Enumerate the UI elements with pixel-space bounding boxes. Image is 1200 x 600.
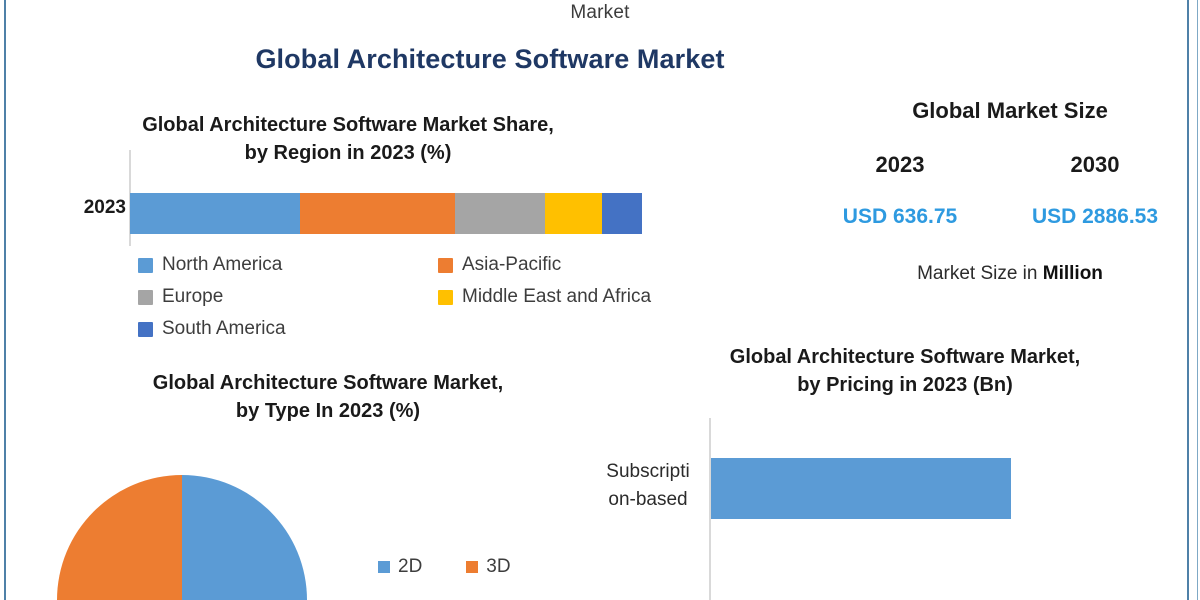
market-share-segment-north-america (130, 193, 300, 234)
market-by-type-pie-chart (57, 475, 307, 600)
region-legend-item: Europe (138, 286, 438, 308)
region-legend-label: Asia-Pacific (462, 254, 561, 276)
region-legend-item: Asia-Pacific (438, 254, 698, 276)
region-legend-label: Europe (162, 286, 223, 308)
right-border-rule (1187, 0, 1189, 600)
market-share-segment-south-america (602, 193, 642, 234)
region-legend-label: South America (162, 318, 286, 340)
right-border-rule-outer (1197, 0, 1198, 600)
market-by-pricing-title-line-2: by Pricing in 2023 (Bn) (600, 372, 1200, 400)
breadcrumb-top-right (880, 0, 1180, 2)
market-size-year-2030: 2030 (1015, 152, 1175, 178)
market-share-segment-europe (455, 193, 545, 234)
legend-swatch-icon (138, 258, 153, 273)
region-legend-item: North America (138, 254, 438, 276)
market-by-type-title-line-1: Global Architecture Software Market, (18, 370, 638, 398)
market-size-unit-prefix: Market Size in (917, 263, 1043, 284)
legend-swatch-icon (138, 322, 153, 337)
type-legend-item: 2D (378, 556, 422, 578)
market-share-stacked-bar (130, 193, 642, 234)
market-size-year-2023: 2023 (820, 152, 980, 178)
market-by-pricing-bar (711, 458, 1011, 519)
region-legend-item: South America (138, 318, 438, 340)
left-border-rule (4, 0, 6, 600)
pricing-category-label-line-1: Subscripti (592, 458, 704, 486)
pricing-category-label-line-2: on-based (592, 486, 704, 514)
market-size-value-2030: USD 2886.53 (995, 205, 1195, 229)
region-legend-label: Middle East and Africa (462, 286, 651, 308)
page-title: Global Architecture Software Market (0, 44, 980, 75)
market-size-unit-value: Million (1043, 263, 1103, 284)
market-share-chart-title: Global Architecture Software Market Shar… (38, 112, 658, 167)
region-legend: North AmericaAsia-PacificEuropeMiddle Ea… (138, 254, 698, 340)
market-share-category-label: 2023 (42, 197, 126, 219)
breadcrumb-top: Market (0, 2, 1200, 24)
type-legend-label: 3D (486, 556, 510, 578)
market-size-unit-note: Market Size in Million (840, 263, 1180, 285)
global-market-size-title: Global Market Size (840, 98, 1180, 124)
region-legend-item: Middle East and Africa (438, 286, 698, 308)
market-size-value-2023: USD 636.75 (800, 205, 1000, 229)
type-legend-label: 2D (398, 556, 422, 578)
legend-swatch-icon (438, 290, 453, 305)
region-legend-label: North America (162, 254, 282, 276)
market-share-segment-middle-east-and-africa (545, 193, 602, 234)
market-by-type-title-line-2: by Type In 2023 (%) (18, 398, 638, 426)
market-by-type-legend: 2D3D (378, 556, 511, 578)
legend-swatch-icon (138, 290, 153, 305)
legend-swatch-icon (378, 561, 390, 573)
market-share-title-line-1: Global Architecture Software Market Shar… (38, 112, 658, 140)
market-share-segment-asia-pacific (300, 193, 455, 234)
infographic-canvas: Market Global Architecture Software Mark… (0, 0, 1200, 600)
market-by-type-chart-title: Global Architecture Software Market, by … (18, 370, 638, 425)
type-legend-item: 3D (466, 556, 510, 578)
legend-swatch-icon (466, 561, 478, 573)
market-by-pricing-title-line-1: Global Architecture Software Market, (600, 344, 1200, 372)
legend-swatch-icon (438, 258, 453, 273)
market-by-pricing-category-label: Subscripti on-based (592, 458, 704, 513)
market-by-pricing-chart-title: Global Architecture Software Market, by … (600, 344, 1200, 399)
market-share-title-line-2: by Region in 2023 (%) (38, 140, 658, 168)
